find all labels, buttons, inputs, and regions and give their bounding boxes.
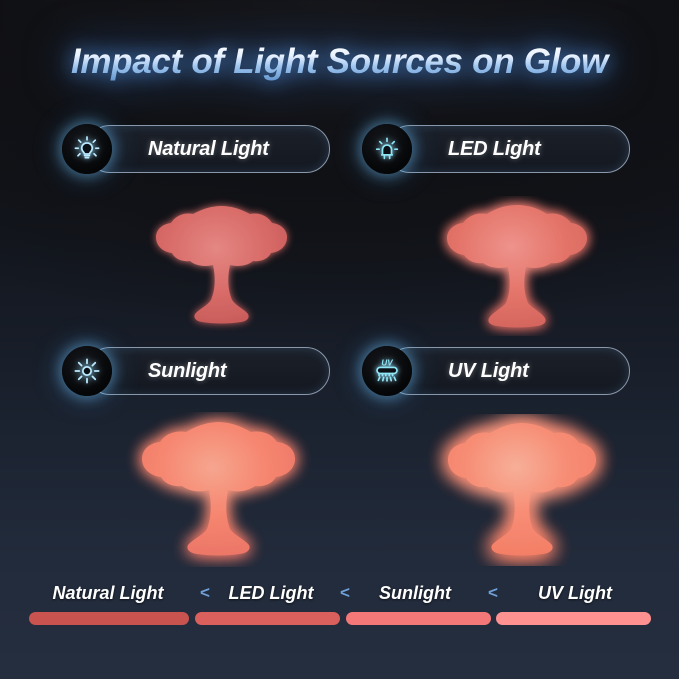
legend-label-1: LED Light bbox=[206, 578, 336, 608]
legend-bars-row bbox=[0, 612, 679, 626]
mushroom-lamp-natural-light bbox=[110, 196, 330, 336]
card-led-light[interactable]: LED Light bbox=[362, 125, 630, 173]
legend-label-3: UV Light bbox=[500, 578, 650, 608]
uv-lamp-icon: UV bbox=[362, 346, 412, 396]
lightbulb-icon bbox=[62, 124, 112, 174]
card-label: Sunlight bbox=[148, 347, 226, 395]
legend-bar-led-light bbox=[195, 612, 340, 625]
legend-bar-sunlight bbox=[346, 612, 491, 625]
card-sunlight[interactable]: Sunlight bbox=[62, 347, 330, 395]
legend-bar-natural-light bbox=[29, 612, 189, 625]
mushroom-lamp-sunlight bbox=[92, 412, 340, 567]
led-bulb-icon bbox=[362, 124, 412, 174]
mushroom-lamp-uv-light bbox=[400, 414, 640, 566]
legend-labels-row: Natural Light < LED Light < Sunlight < U… bbox=[0, 578, 679, 608]
legend-bar-uv-light bbox=[496, 612, 651, 625]
legend-label-2: Sunlight bbox=[350, 578, 480, 608]
page-title: Impact of Light Sources on Glow bbox=[0, 42, 679, 82]
mushroom-lamp-led-light bbox=[400, 196, 630, 336]
card-label: Natural Light bbox=[148, 125, 269, 173]
legend-label-0: Natural Light bbox=[22, 578, 194, 608]
card-label: LED Light bbox=[448, 125, 541, 173]
uv-icon-text: UV bbox=[381, 359, 393, 368]
card-natural-light[interactable]: Natural Light bbox=[62, 125, 330, 173]
sun-icon bbox=[62, 346, 112, 396]
card-uv-light[interactable]: UV UV Light bbox=[362, 347, 630, 395]
legend: Natural Light < LED Light < Sunlight < U… bbox=[0, 578, 679, 638]
card-label: UV Light bbox=[448, 347, 529, 395]
poster-canvas: Impact of Light Sources on Glow Natural … bbox=[0, 0, 679, 679]
